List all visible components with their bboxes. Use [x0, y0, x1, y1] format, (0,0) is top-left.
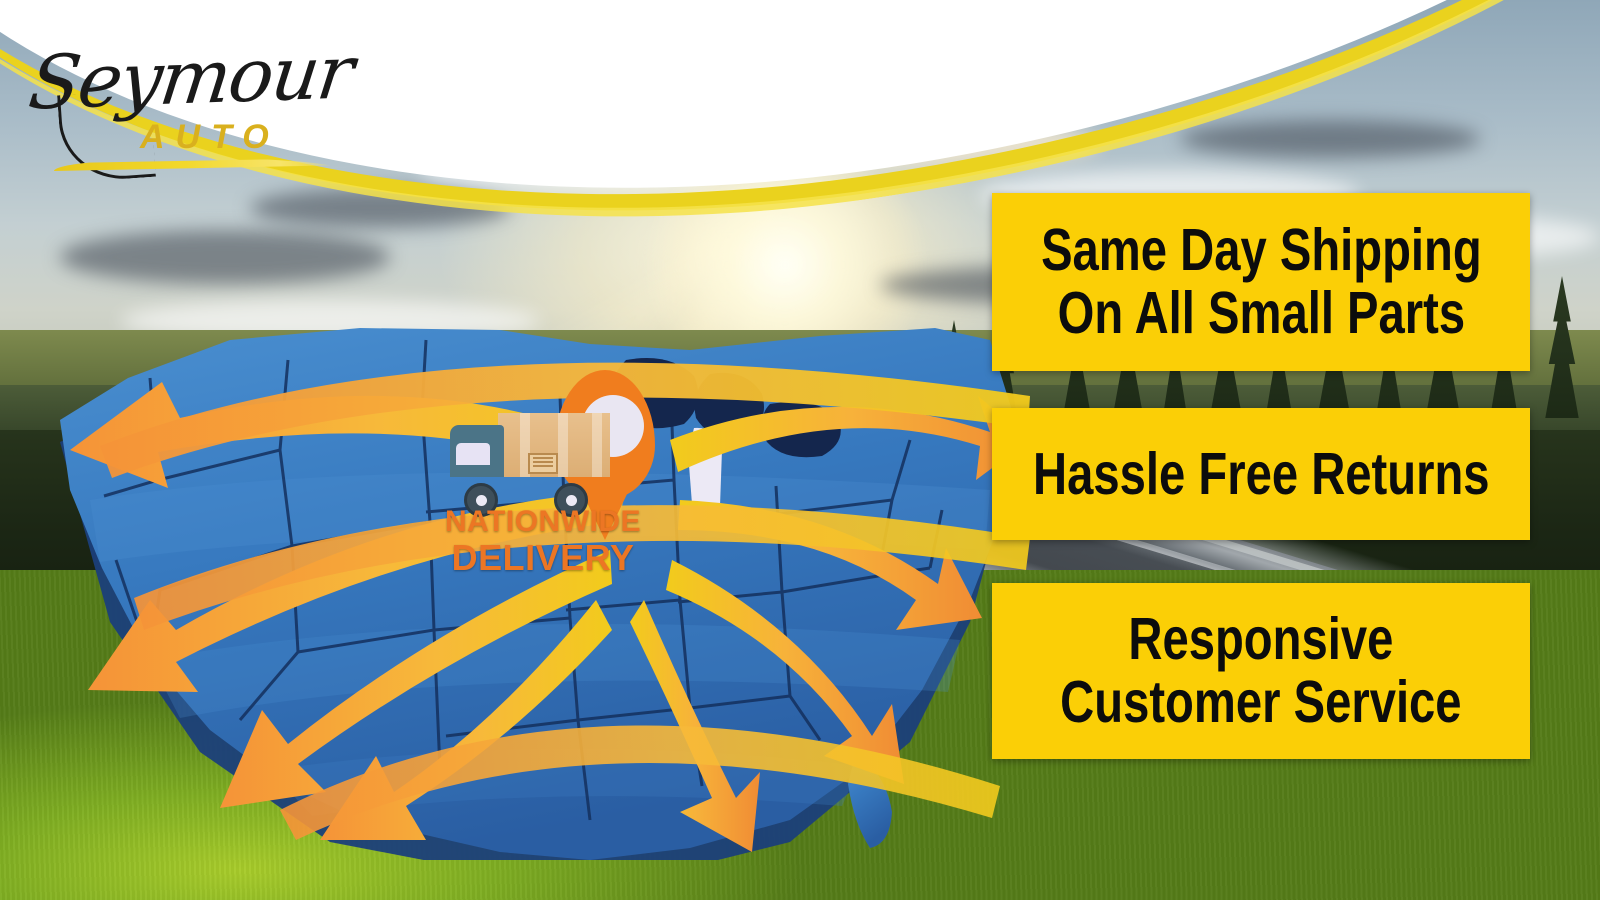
truck-cab [450, 425, 504, 477]
cloud [1180, 120, 1480, 158]
brand-logo[interactable]: Seymour AUTO [30, 22, 350, 172]
badge-line-1: NATIONWIDE [428, 505, 658, 539]
feature-line: On All Small Parts [1057, 280, 1464, 346]
feature-banner-same-day-shipping[interactable]: Same Day Shipping On All Small Parts [992, 193, 1530, 371]
feature-line: Customer Service [1060, 669, 1461, 735]
feature-banner-responsive-customer-service[interactable]: Responsive Customer Service [992, 583, 1530, 759]
feature-line: Hassle Free Returns [1033, 441, 1489, 507]
feature-line: Responsive [1129, 606, 1394, 672]
logo-subtitle: AUTO [140, 118, 280, 157]
badge-caption: NATIONWIDE DELIVERY [428, 505, 658, 577]
badge-line-2: DELIVERY [428, 539, 658, 577]
truck-window [456, 443, 490, 465]
nationwide-delivery-badge: NATIONWIDE DELIVERY [440, 365, 660, 580]
truck-shipping-label [528, 453, 558, 474]
feature-banner-text: Hassle Free Returns [1033, 443, 1489, 506]
delivery-truck-icon [450, 413, 610, 505]
feature-banner-hassle-free-returns[interactable]: Hassle Free Returns [992, 408, 1530, 540]
feature-line: Same Day Shipping [1041, 217, 1482, 283]
feature-banner-text: Responsive Customer Service [1060, 608, 1461, 733]
cloud [60, 230, 390, 284]
feature-banner-text: Same Day Shipping On All Small Parts [1041, 219, 1482, 344]
promo-banner: Seymour AUTO [0, 0, 1600, 900]
